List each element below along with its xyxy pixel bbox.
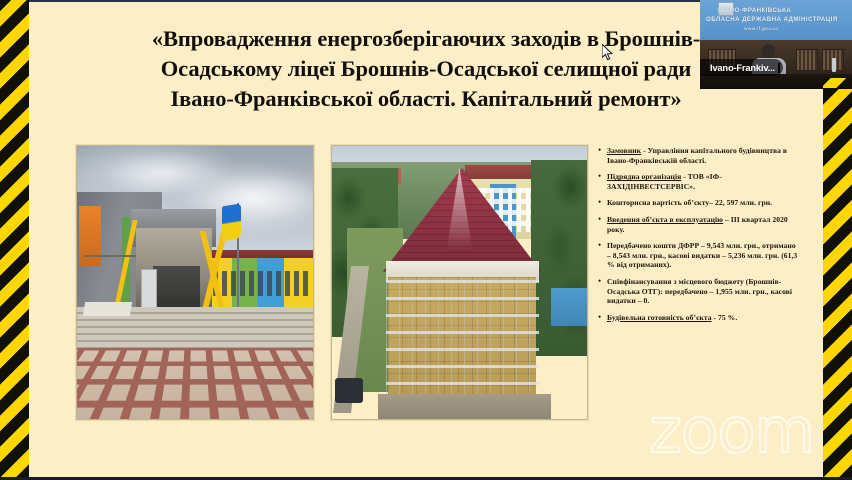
list-item: • Співфінансування з місцевого бюджету (… [598, 277, 798, 306]
video-participant-tile[interactable]: ІВАНО-ФРАНКІВСЬКА ОБЛАСНА ДЕРЖАВНА АДМІН… [700, 0, 852, 89]
slide-title: «Впровадження енергозберігаючих заходів … [40, 24, 812, 114]
list-item-text: Кошторисна вартість об’єкту– 22, 597 млн… [607, 198, 798, 208]
blue-outbuilding [551, 288, 587, 326]
list-item-rest: Кошторисна вартість об’єкту– 22, 597 млн… [607, 198, 772, 207]
speaker-head [762, 44, 775, 58]
list-item: • Замовник - Управління капітального буд… [598, 146, 798, 165]
bullet-dot-icon: • [598, 198, 607, 208]
banner-line-3: www.if.gov.ua [744, 26, 778, 31]
list-item: • Будівельна готовність об’єкта - 75 %. [598, 313, 798, 323]
banner-line-2: ОБЛАСНА ДЕРЖАВНА АДМІНІСТРАЦІЯ [706, 16, 838, 23]
list-item-lead: Введення об’єкта в експлуатацію [607, 215, 723, 224]
list-item: • Кошторисна вартість об’єкту– 22, 597 м… [598, 198, 798, 208]
list-item-rest: Співфінансування з місцевого бюджету (Бр… [607, 277, 792, 305]
trees-right [531, 160, 587, 357]
bullet-dot-icon: • [598, 146, 607, 165]
water-bottle [832, 58, 836, 72]
zoom-screenshare-screen: zoom «Впровадження енергозберігаючих зах… [0, 0, 852, 480]
list-item: • Введення об’єкта в експлуатацію – ІІІ … [598, 215, 798, 234]
bullet-dot-icon: • [598, 215, 607, 234]
bullet-dot-icon: • [598, 172, 607, 191]
parked-car [335, 378, 363, 403]
list-item-text: Будівельна готовність об’єкта - 75 %. [607, 313, 798, 323]
wing-windows [213, 271, 309, 296]
slide-title-line-2: Осадському ліцеї Брошнів-Осадської селищ… [40, 54, 812, 84]
school-entrance-photo-content [77, 146, 313, 419]
slide-title-line-3: Івано-Франківської області. Капітальний … [40, 84, 812, 114]
construction-ground [378, 394, 551, 419]
bullet-dot-icon: • [598, 277, 607, 306]
list-item-text: Передбачено кошти ДФРР – 9,543 млн. грн.… [607, 241, 798, 270]
construction-tarp [83, 302, 133, 316]
slide-title-line-1: «Впровадження енергозберігаючих заходів … [40, 24, 812, 54]
list-item-lead: Будівельна готовність об’єкта [607, 313, 712, 322]
list-item-text: Підрядна організація - ТОВ «ІФ-ЗАХІДІНВЕ… [607, 172, 798, 191]
participant-name-label: Ivano-Frankiv... [700, 59, 783, 76]
scaffolding [386, 280, 539, 406]
hazard-stripe-left [0, 0, 29, 480]
bullet-dot-icon: • [598, 313, 607, 323]
school-entrance-photo [76, 145, 314, 420]
paving-pattern [77, 348, 313, 419]
list-item-text: Замовник - Управління капітального будів… [607, 146, 798, 165]
list-item-text: Введення об’єкта в експлуатацію – ІІІ кв… [607, 215, 798, 234]
list-item-lead: Замовник [607, 146, 641, 155]
bullet-dot-icon: • [598, 241, 607, 270]
hazard-stripe-corner [823, 78, 852, 88]
list-item-text: Співфінансування з місцевого бюджету (Бр… [607, 277, 798, 306]
ukraine-flag [222, 203, 241, 241]
banner-line-1: ІВАНО-ФРАНКІВСЬКА [718, 7, 791, 14]
zoom-watermark: zoom [649, 400, 814, 462]
scaffold-bar [84, 255, 136, 257]
aerial-renovation-photo [331, 145, 588, 420]
list-item: • Підрядна організація - ТОВ «ІФ-ЗАХІДІН… [598, 172, 798, 191]
list-item: • Передбачено кошти ДФРР – 9,543 млн. гр… [598, 241, 798, 270]
list-item-lead: Підрядна організація [607, 172, 681, 181]
project-facts-list: • Замовник - Управління капітального буд… [598, 146, 798, 329]
wood-panel [796, 49, 818, 70]
aerial-renovation-photo-content [332, 146, 587, 419]
list-item-rest: - 75 %. [712, 313, 738, 322]
list-item-rest: Передбачено кошти ДФРР – 9,543 млн. грн.… [607, 241, 797, 269]
paved-plaza [77, 348, 313, 419]
